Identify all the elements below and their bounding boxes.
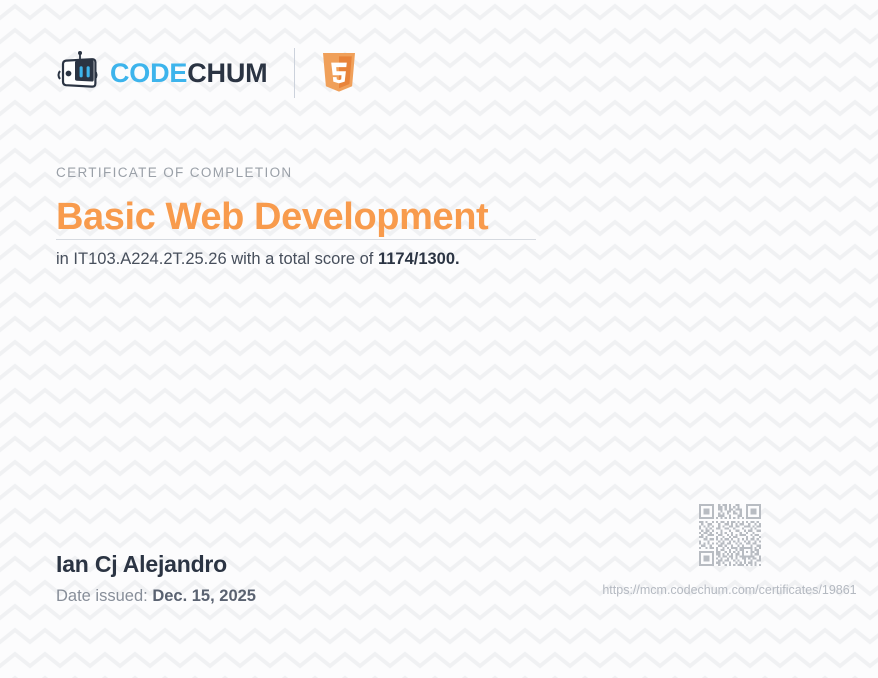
codechum-robot-icon	[54, 50, 100, 96]
codechum-brand-lockup: CODECHUM	[54, 50, 267, 96]
header-divider	[294, 48, 295, 98]
certificate-subtitle: in IT103.A224.2T.25.26 with a total scor…	[56, 250, 460, 269]
wordmark-chum: CHUM	[187, 58, 267, 88]
title-underline-rule	[56, 239, 536, 240]
date-issued-value: Dec. 15, 2025	[152, 587, 256, 605]
html5-badge-icon	[322, 53, 356, 93]
codechum-wordmark: CODECHUM	[110, 60, 267, 87]
certificate-canvas: CODECHUM CERTIFICATE OF COMPLETION Basic…	[0, 0, 878, 678]
verification-url[interactable]: https://mcm.codechum.com/certificates/19…	[598, 583, 861, 597]
certificate-qr-code[interactable]	[699, 504, 761, 566]
total-score-value: 1174/1300.	[378, 250, 460, 268]
certificate-header: CODECHUM	[54, 44, 356, 102]
date-issued-label: Date issued:	[56, 587, 148, 605]
verification-block: https://mcm.codechum.com/certificates/19…	[598, 504, 861, 597]
certificate-eyebrow: CERTIFICATE OF COMPLETION	[56, 165, 293, 180]
date-issued-line: Date issued: Dec. 15, 2025	[56, 587, 256, 606]
subtitle-prefix: in IT103.A224.2T.25.26 with a total scor…	[56, 250, 373, 268]
wordmark-code: CODE	[110, 58, 187, 88]
recipient-name: Ian Cj Alejandro	[56, 551, 227, 578]
certificate-title: Basic Web Development	[56, 196, 488, 240]
